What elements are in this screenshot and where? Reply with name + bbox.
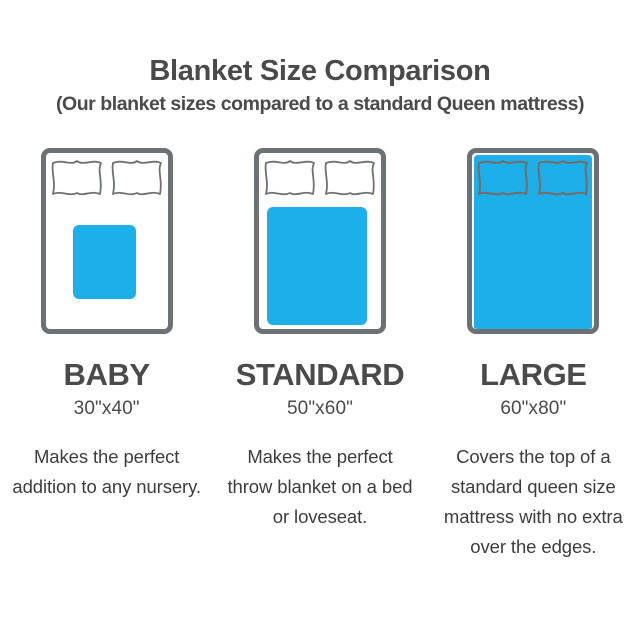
- page-subtitle: (Our blanket sizes compared to a standar…: [0, 92, 640, 116]
- size-description-standard: Makes the perfect throw blanket on a bed…: [225, 442, 415, 532]
- size-description-large: Covers the top of a standard queen size …: [438, 442, 628, 562]
- pillow-left-icon: [49, 157, 105, 199]
- comparison-columns: BABY 30"x40" Makes the perfect addition …: [0, 148, 640, 562]
- size-dimensions-standard: 50"x60": [287, 397, 353, 420]
- blanket-overlay-standard: [267, 207, 367, 325]
- page-title: Blanket Size Comparison: [0, 54, 640, 88]
- pillow-right-icon: [322, 157, 378, 199]
- size-name-baby: BABY: [64, 358, 150, 392]
- size-name-standard: STANDARD: [236, 358, 404, 392]
- bed-diagram-large: [467, 148, 599, 334]
- size-description-baby: Makes the perfect addition to any nurser…: [12, 442, 202, 502]
- size-column-standard: STANDARD 50"x60" Makes the perfect throw…: [213, 148, 426, 562]
- pillow-group: [49, 157, 165, 199]
- mattress-surface: [259, 153, 381, 329]
- blanket-overlay-baby: [73, 225, 136, 299]
- bed-diagram-baby: [41, 148, 173, 334]
- blanket-size-comparison-infographic: Blanket Size Comparison (Our blanket siz…: [0, 0, 640, 640]
- pillow-left-icon: [475, 157, 531, 199]
- header: Blanket Size Comparison (Our blanket siz…: [0, 54, 640, 116]
- size-dimensions-large: 60"x80": [500, 397, 566, 420]
- pillow-right-icon: [109, 157, 165, 199]
- size-dimensions-baby: 30"x40": [74, 397, 140, 420]
- pillow-group: [475, 157, 591, 199]
- mattress-surface: [46, 153, 168, 329]
- size-name-large: LARGE: [480, 358, 587, 392]
- pillow-group: [262, 157, 378, 199]
- pillow-left-icon: [262, 157, 318, 199]
- bed-diagram-standard: [254, 148, 386, 334]
- pillow-right-icon: [535, 157, 591, 199]
- mattress-surface: [472, 153, 594, 329]
- size-column-baby: BABY 30"x40" Makes the perfect addition …: [0, 148, 213, 562]
- size-column-large: LARGE 60"x80" Covers the top of a standa…: [427, 148, 640, 562]
